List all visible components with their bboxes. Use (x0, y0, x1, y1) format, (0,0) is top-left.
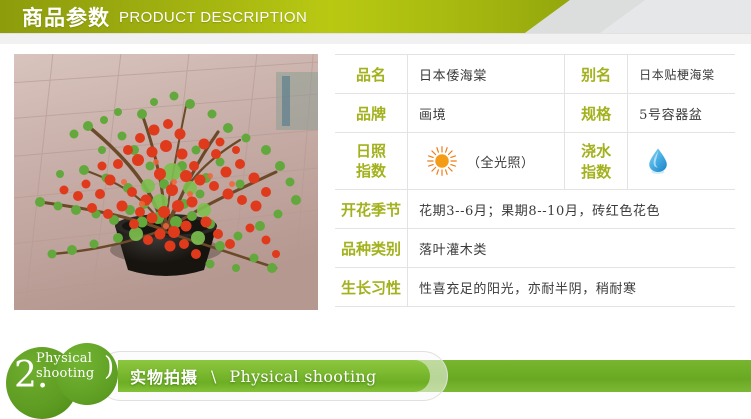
spec-label-variety-type: 品种类别 (335, 229, 408, 268)
spec-value-guige: 5号容器盆 (628, 94, 735, 133)
section-bar-text-separator: \ (211, 367, 216, 386)
page-title-cn: 商品参数 (22, 2, 110, 32)
spec-value-watering (628, 133, 735, 190)
spec-value-sunlight: （全光照） (408, 133, 565, 190)
table-row: 日照 指数 (335, 133, 735, 190)
spec-label-pinming: 品名 (335, 55, 408, 94)
page-title-en: PRODUCT DESCRIPTION (119, 9, 307, 26)
spec-label-watering-index: 浇水 指数 (565, 133, 628, 190)
spec-value-pinming: 日本倭海棠 (408, 55, 565, 94)
spec-value-sunlight-text: （全光照） (467, 152, 535, 171)
table-row: 品牌 画境 规格 5号容器盆 (335, 94, 735, 133)
section-circle-label: Physical shooting (36, 352, 94, 382)
product-photo (14, 54, 318, 310)
product-spec-table: 品名 日本倭海棠 别名 日本贴梗海棠 品牌 画境 规格 5号容器盆 日照 指数 (335, 54, 735, 307)
table-row: 品名 日本倭海棠 别名 日本贴梗海棠 (335, 55, 735, 94)
table-row: 开花季节 花期3--6月；果期8--10月，砖红色花色 (335, 190, 735, 229)
spec-label-bieming: 别名 (565, 55, 628, 94)
spec-value-bieming: 日本贴梗海棠 (628, 55, 735, 94)
spec-label-growth-habit: 生长习性 (335, 268, 408, 307)
section-circle-label-line2: shooting (36, 367, 94, 382)
section-circle-paren: ) (104, 352, 114, 382)
spec-value-bloom-season: 花期3--6月；果期8--10月，砖红色花色 (408, 190, 736, 229)
sun-icon (427, 146, 457, 176)
page-title: 商品参数 PRODUCT DESCRIPTION (22, 2, 307, 32)
section-bar-text-en: Physical shooting (229, 367, 376, 386)
spec-value-pinpai: 画境 (408, 94, 565, 133)
section-banner-physical-shooting: 2. Physical shooting ) 实物拍摄 \ Physical s… (0, 338, 751, 419)
water-drop-icon (647, 147, 669, 175)
header-underbar (0, 33, 751, 44)
spec-label-guige: 规格 (565, 94, 628, 133)
section-bar-text: 实物拍摄 \ Physical shooting (130, 360, 377, 392)
spec-value-growth-habit: 性喜充足的阳光，亦耐半阴，稍耐寒 (408, 268, 736, 307)
section-circle-label-line1: Physical (36, 352, 94, 367)
spec-label-watering-line1: 浇水 (565, 140, 627, 161)
section-bar-text-cn: 实物拍摄 (130, 364, 198, 388)
table-row: 生长习性 性喜充足的阳光，亦耐半阴，稍耐寒 (335, 268, 735, 307)
spec-label-sunlight-index: 日照 指数 (335, 133, 408, 190)
spec-label-bloom-season: 开花季节 (335, 190, 408, 229)
spec-label-watering-line2: 指数 (565, 161, 627, 182)
spec-label-sunlight-line1: 日照 (335, 141, 407, 161)
product-photo-illustration (14, 54, 318, 310)
table-row: 品种类别 落叶灌木类 (335, 229, 735, 268)
spec-label-sunlight-line2: 指数 (335, 161, 407, 181)
page-header: 商品参数 PRODUCT DESCRIPTION (0, 0, 751, 44)
spec-value-variety-type: 落叶灌木类 (408, 229, 736, 268)
spec-label-pinpai: 品牌 (335, 94, 408, 133)
